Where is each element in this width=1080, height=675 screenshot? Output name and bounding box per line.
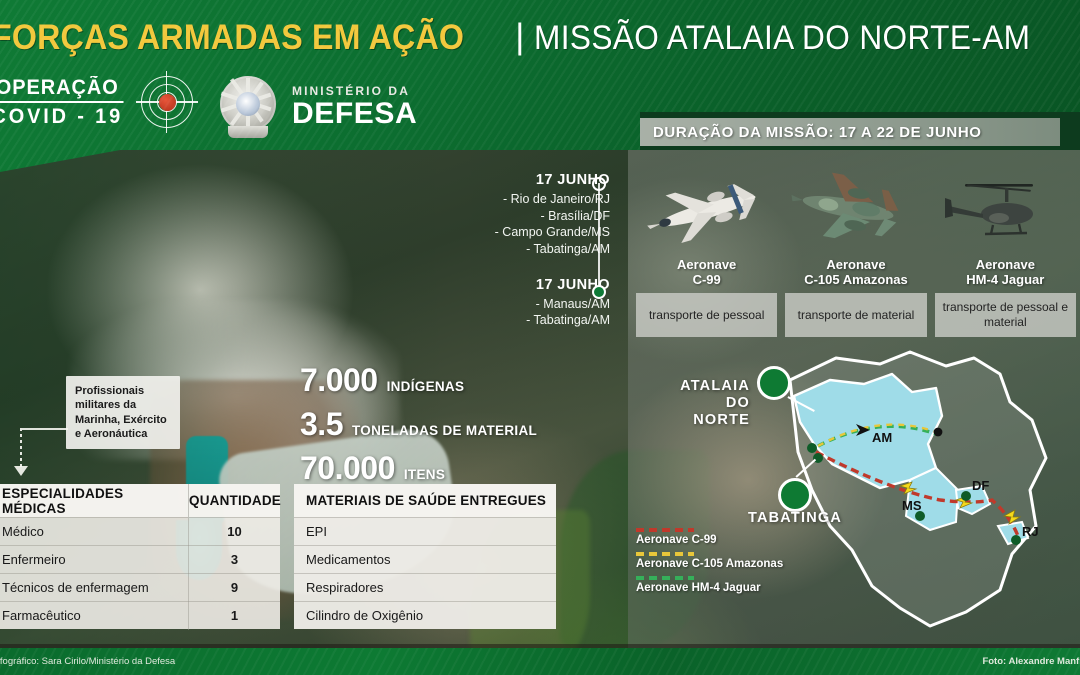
map-legend: Aeronave C-99 Aeronave C-105 Amazonas Ae…: [636, 528, 783, 600]
timeline-axis: [592, 175, 606, 295]
cell-quantity: 3: [188, 546, 280, 574]
table-row: Cilindro de Oxigênio: [294, 601, 556, 629]
callout-connector-line: [22, 428, 68, 430]
timeline-stop: - Tabatinga/AM: [470, 312, 610, 329]
header-banner: FORÇAS ARMADAS EM AÇÃO | MISSÃO ATALAIA …: [0, 0, 1080, 172]
timeline-stop: - Brasília/DF: [470, 208, 610, 225]
callout-connector-dashes: [20, 428, 22, 468]
aircraft-role: transporte de pessoal: [636, 293, 777, 337]
mission-timeline: 17 JUNHO - Rio de Janeiro/RJ - Brasília/…: [470, 172, 610, 329]
operation-wordmark: OPERAÇÃO COVID - 19: [0, 77, 123, 128]
cell-specialty: Técnicos de enfermagem: [0, 580, 188, 595]
legend-item: Aeronave C-99: [636, 528, 783, 546]
header-title-row: FORÇAS ARMADAS EM AÇÃO | MISSÃO ATALAIA …: [0, 18, 1068, 58]
table-row: Respiradores: [294, 573, 556, 601]
stat-number: 70.000: [300, 450, 395, 487]
page-title: FORÇAS ARMADAS EM AÇÃO: [0, 18, 464, 58]
statistics-block: 7.000 INDÍGENAS 3.5 TONELADAS DE MATERIA…: [300, 362, 537, 494]
legend-item: Aeronave HM-4 Jaguar: [636, 576, 783, 594]
operation-logo: OPERAÇÃO COVID - 19: [0, 76, 193, 128]
timeline-stop-list: - Rio de Janeiro/RJ - Brasília/DF - Camp…: [470, 191, 610, 258]
aircraft-prefix: Aeronave: [636, 258, 777, 273]
map-label-tabatinga: TABATINGA: [740, 510, 850, 527]
table-row: Medicamentos: [294, 545, 556, 573]
aircraft-model: C-99: [636, 273, 777, 288]
ministry-wordmark: MINISTÉRIO DA DEFESA: [292, 84, 417, 129]
operation-rule: [0, 101, 123, 103]
cell-quantity: 9: [188, 574, 280, 602]
legend-item: Aeronave C-105 Amazonas: [636, 552, 783, 570]
legend-swatch-c105: [636, 552, 694, 556]
map-state-label-ms: MS: [902, 498, 922, 513]
timeline-group: 17 JUNHO - Manaus/AM - Tabatinga/AM: [470, 277, 610, 329]
panel-title-bar: DURAÇÃO DA MISSÃO: 17 A 22 DE JUNHO: [640, 118, 1060, 146]
legend-label: Aeronave HM-4 Jaguar: [636, 582, 783, 594]
materials-table: MATERIAIS DE SAÚDE ENTREGUES EPI Medicam…: [294, 484, 556, 629]
cell-material: Cilindro de Oxigênio: [294, 608, 556, 623]
table-row: Farmacêutico 1: [0, 601, 280, 629]
credit-infographic: Infográfico: Sara Cirilo/Ministério da D…: [0, 656, 175, 667]
column-header-specialty: ESPECIALIDADES MÉDICAS: [0, 486, 188, 516]
operation-line1: OPERAÇÃO: [0, 77, 123, 98]
aircraft-model: C-105 Amazonas: [785, 273, 926, 288]
timeline-node-start: [592, 177, 606, 191]
timeline-group: 17 JUNHO - Rio de Janeiro/RJ - Brasília/…: [470, 172, 610, 258]
timeline-stop: - Campo Grande/MS: [470, 224, 610, 241]
footer-bar: Infográfico: Sara Cirilo/Ministério da D…: [0, 648, 1080, 675]
aircraft-name: Aeronave C-105 Amazonas: [785, 258, 926, 288]
cell-material: Respiradores: [294, 580, 556, 595]
legend-swatch-hm4: [636, 576, 694, 580]
brasao-republica-icon: [216, 70, 280, 142]
map-node-manaus: [934, 428, 943, 437]
stat-number: 7.000: [300, 362, 378, 399]
timeline-node-end: [592, 285, 606, 299]
aircraft-card: Aeronave C-105 Amazonas transporte de ma…: [785, 258, 926, 337]
stat-label: ITENS: [404, 467, 445, 482]
page-subtitle: MISSÃO ATALAIA DO NORTE-AM: [534, 19, 1030, 58]
turboprop-airplane-icon: [781, 169, 926, 249]
map-node-df: [961, 491, 971, 501]
timeline-date: 17 JUNHO: [470, 277, 610, 293]
ministry-line1: MINISTÉRIO DA: [292, 84, 417, 98]
map-pin-atalaia-do-norte: [757, 366, 791, 400]
title-separator: |: [515, 17, 524, 57]
cell-material: EPI: [294, 524, 556, 539]
aircraft-model: HM-4 Jaguar: [935, 273, 1076, 288]
military-professionals-callout: Profissionais militares da Marinha, Exér…: [66, 376, 180, 449]
table-header-row: MATERIAIS DE SAÚDE ENTREGUES: [294, 484, 556, 517]
column-header-quantity: QUANTIDADE: [188, 484, 280, 517]
map-state-label-df: DF: [972, 478, 989, 493]
map-label-atalaia-do-norte: ATALAIA DO NORTE: [672, 378, 750, 429]
aircraft-card: Aeronave C-99 transporte de pessoal: [636, 258, 777, 337]
cell-material: Medicamentos: [294, 552, 556, 567]
cell-specialty: Farmacêutico: [0, 608, 188, 623]
timeline-date: 17 JUNHO: [470, 172, 610, 188]
table-row: Médico 10: [0, 517, 280, 545]
operation-line2: COVID - 19: [0, 106, 123, 127]
crosshair-virus-icon: [141, 76, 193, 128]
legend-swatch-c99: [636, 528, 694, 532]
aircraft-cards: Aeronave C-99 transporte de pessoal Aero…: [636, 258, 1076, 337]
specialties-table: ESPECIALIDADES MÉDICAS QUANTIDADE Médico…: [0, 484, 280, 629]
infographic-canvas: FORÇAS ARMADAS EM AÇÃO | MISSÃO ATALAIA …: [0, 0, 1080, 675]
timeline-stop: - Tabatinga/AM: [470, 241, 610, 258]
stat-item: 3.5 TONELADAS DE MATERIAL: [300, 406, 537, 443]
cell-specialty: Enfermeiro: [0, 552, 188, 567]
map-state-label-rj: RJ: [1022, 524, 1039, 539]
aircraft-role: transporte de material: [785, 293, 926, 337]
helicopter-icon: [927, 176, 1072, 242]
timeline-stop: - Rio de Janeiro/RJ: [470, 191, 610, 208]
legend-label: Aeronave C-99: [636, 534, 783, 546]
timeline-stop-list: - Manaus/AM - Tabatinga/AM: [470, 296, 610, 329]
map-node-rj: [1011, 535, 1021, 545]
timeline-stop: - Manaus/AM: [470, 296, 610, 313]
table-row: EPI: [294, 517, 556, 545]
cell-quantity: 10: [188, 518, 280, 546]
map-node-atalaia: [807, 443, 817, 453]
aircraft-card: Aeronave HM-4 Jaguar transporte de pesso…: [935, 258, 1076, 337]
ministry-logo: MINISTÉRIO DA DEFESA: [216, 70, 417, 142]
credit-photo: Foto: Alexandre Manfrim: [982, 656, 1080, 667]
table-row: Técnicos de enfermagem 9: [0, 573, 280, 601]
map-state-label-am: AM: [872, 430, 892, 445]
aircraft-prefix: Aeronave: [785, 258, 926, 273]
table-row: Enfermeiro 3: [0, 545, 280, 573]
stat-item: 70.000 ITENS: [300, 450, 537, 487]
aircraft-photo-row: [636, 163, 1072, 255]
aircraft-name: Aeronave HM-4 Jaguar: [935, 258, 1076, 288]
table-header-row: ESPECIALIDADES MÉDICAS QUANTIDADE: [0, 484, 280, 517]
cell-specialty: Médico: [0, 524, 188, 539]
stat-label: INDÍGENAS: [387, 379, 465, 394]
stat-number: 3.5: [300, 406, 343, 443]
stat-label: TONELADAS DE MATERIAL: [352, 423, 537, 438]
legend-label: Aeronave C-105 Amazonas: [636, 558, 783, 570]
cell-quantity: 1: [188, 602, 280, 630]
ministry-line2: DEFESA: [292, 99, 417, 129]
aircraft-prefix: Aeronave: [935, 258, 1076, 273]
column-header-materials: MATERIAIS DE SAÚDE ENTREGUES: [294, 493, 556, 508]
map-pin-tabatinga: [778, 478, 812, 512]
jet-airplane-icon: [636, 172, 781, 246]
stat-item: 7.000 INDÍGENAS: [300, 362, 537, 399]
aircraft-role: transporte de pessoal e material: [935, 293, 1076, 337]
callout-arrow-head: [14, 466, 28, 476]
aircraft-name: Aeronave C-99: [636, 258, 777, 288]
